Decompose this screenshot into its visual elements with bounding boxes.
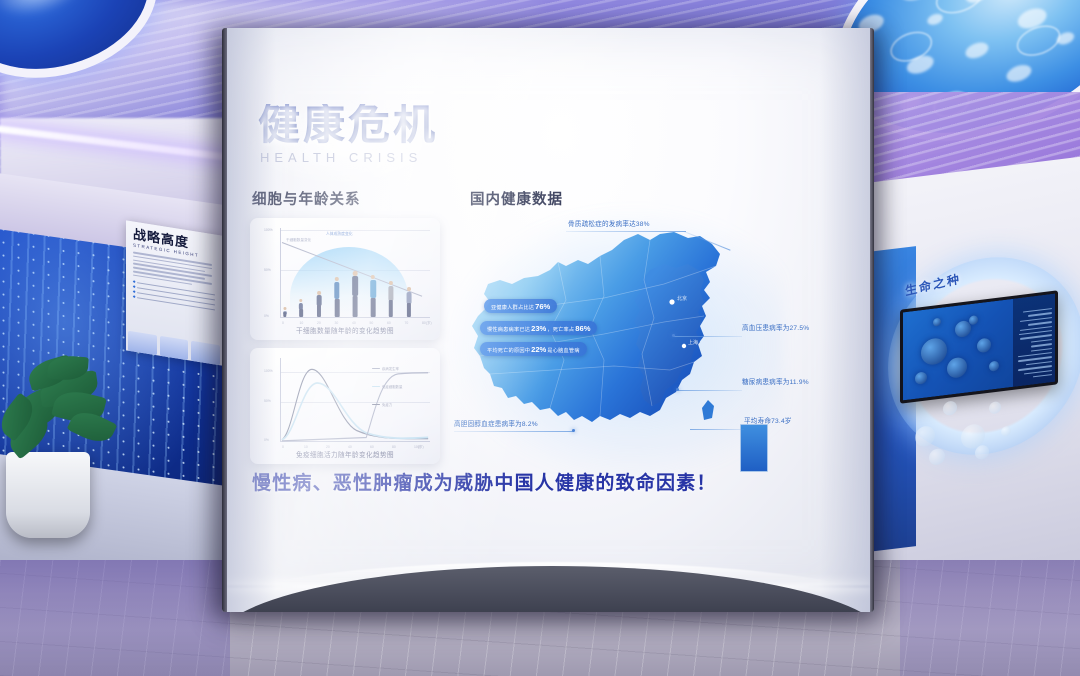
monitor-screen [903, 294, 1055, 401]
annotation-life-expectancy: 平均寿命73.4岁 [744, 415, 792, 425]
section-heading-cell-age: 细胞与年龄关系 [252, 188, 361, 209]
chart-card-stem-cells: 100% 50% 0% 人体成熟度变化 干细胞数量变化 010203040506… [250, 218, 440, 340]
stem-cell-line-label: 干细胞数量变化 [286, 238, 311, 243]
chart-caption-immunity: 免疫细胞活力随年龄变化趋势图 [250, 449, 440, 459]
page-title: 健康危机 [258, 104, 438, 146]
y-tick: 0% [264, 438, 269, 442]
stem-cell-plot: 100% 50% 0% 人体成熟度变化 干细胞数量变化 010203040506… [264, 228, 430, 318]
wall-monitor [900, 290, 1058, 403]
y-tick: 50% [264, 399, 271, 403]
panel-edge-left [222, 28, 227, 612]
legend-label: 免疫力 [382, 402, 392, 407]
immunity-plot: 100% 50% 0% 疾病发生率 免疫细胞数量 免疫 [264, 358, 430, 442]
x-axis [280, 317, 430, 318]
page-subtitle: HEALTH CRISIS [260, 150, 422, 165]
city-label-shanghai: 上海 [688, 339, 698, 346]
y-tick: 100% [264, 228, 273, 232]
stat-pill-subhealth: 亚健康人群占比达76% [484, 299, 557, 313]
city-label-beijing: 北京 [677, 295, 687, 302]
floor-light-cast-left [0, 560, 230, 676]
chart-caption-stem-cells: 干细胞数量随年龄的变化趋势图 [250, 325, 440, 335]
panel-content: 健康危机 HEALTH CRISIS 细胞与年龄关系 国内健康数据 100% 5… [222, 28, 874, 612]
immunity-legend: 疾病发生率 免疫细胞数量 免疫力 [372, 366, 426, 420]
chart-card-immunity: 100% 50% 0% 疾病发生率 免疫细胞数量 免疫 [250, 348, 440, 464]
stat-pill-chronic: 慢性病患病率已达23% ，死亡率占86% [480, 321, 597, 335]
stat-pill-cardiovascular: 平均死亡的原因中22%是心脑血管病 [480, 342, 587, 356]
y-tick: 0% [264, 314, 269, 318]
y-tick: 50% [264, 268, 271, 272]
molecule-graphic [905, 385, 1015, 469]
annotation-diabetes: 糖尿病患病率为11.9% [742, 376, 809, 386]
exhibition-hall-photo: 战略高度 STRATEGIC HEIGHT 生命之种 [0, 0, 1080, 676]
annotation-hypertension: 高血压患病率为27.5% [742, 322, 809, 332]
annotation-cholesterol: 高胆固醇血症患病率为8.2% [454, 418, 538, 428]
y-axis [280, 228, 281, 318]
exhibition-panel: 健康危机 HEALTH CRISIS 细胞与年龄关系 国内健康数据 100% 5… [222, 28, 874, 612]
legend-label: 免疫细胞数量 [382, 384, 402, 389]
legend-label: 疾病发生率 [382, 366, 399, 371]
plant-pot [6, 452, 90, 538]
y-tick: 100% [264, 369, 273, 373]
annotation-osteoporosis: 骨质疏松症的发病率达38% [568, 218, 650, 228]
maturity-curve-label: 人体成熟度变化 [326, 232, 353, 237]
headline-text: 慢性病、恶性肿瘤成为威胁中国人健康的致命因素！ [252, 468, 717, 495]
floor-light-cast-right [900, 560, 1080, 676]
panel-edge-right [870, 28, 874, 612]
south-china-sea-inset [740, 424, 768, 472]
